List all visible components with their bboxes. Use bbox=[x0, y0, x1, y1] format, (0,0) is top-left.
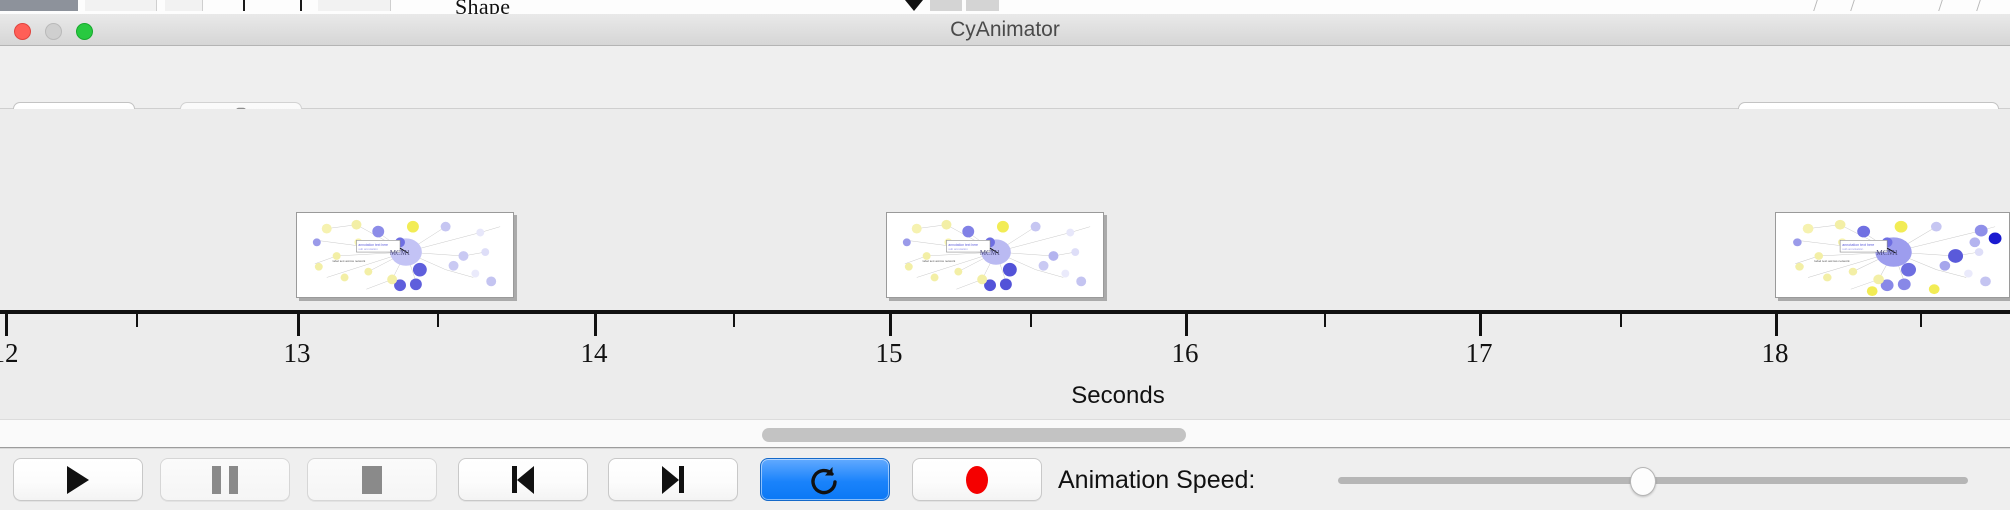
axis-label-13: 13 bbox=[284, 338, 311, 369]
axis-label-15: 15 bbox=[876, 338, 903, 369]
loop-icon bbox=[810, 464, 840, 496]
skip-back-icon bbox=[512, 466, 534, 494]
svg-text:MCM1: MCM1 bbox=[390, 250, 411, 257]
title-bar: CyAnimator bbox=[0, 14, 2010, 46]
play-icon bbox=[67, 466, 89, 494]
axis-tick-minor bbox=[437, 314, 439, 327]
window-title: CyAnimator bbox=[0, 14, 2010, 46]
frame-toolbar: Clear All Frames bbox=[0, 46, 2010, 109]
play-button[interactable] bbox=[13, 458, 143, 501]
record-icon bbox=[966, 466, 988, 494]
axis-label-14: 14 bbox=[581, 338, 608, 369]
skip-to-start-button[interactable] bbox=[458, 458, 588, 501]
axis-label-12: 12 bbox=[0, 338, 19, 369]
background-window-divider bbox=[1976, 0, 1981, 11]
keyframe-thumbnail-3[interactable]: annotation text here sub annotation MCM1… bbox=[1775, 212, 2010, 298]
background-window-divider bbox=[1813, 0, 1818, 11]
background-window-cell bbox=[930, 0, 962, 11]
background-window-cell bbox=[85, 0, 157, 11]
loop-button[interactable] bbox=[760, 458, 890, 501]
stop-icon bbox=[362, 466, 382, 494]
skip-forward-icon bbox=[662, 466, 684, 494]
timeline-scrollbar-thumb[interactable] bbox=[762, 428, 1186, 442]
background-window-tick bbox=[300, 0, 302, 11]
axis-tick-major bbox=[1775, 314, 1778, 336]
background-window-selected-cell bbox=[0, 0, 78, 11]
background-window-divider bbox=[1938, 0, 1943, 11]
skip-to-end-button[interactable] bbox=[608, 458, 738, 501]
background-window-label: Shape bbox=[455, 0, 510, 14]
network-graph-preview: annotation text here sub annotation MCM1… bbox=[297, 213, 513, 297]
svg-text:MCM1: MCM1 bbox=[1876, 249, 1898, 257]
network-graph-preview: annotation text here sub annotation MCM1… bbox=[1776, 213, 2009, 297]
axis-title: Seconds bbox=[0, 382, 2010, 410]
background-window-cell bbox=[165, 0, 203, 11]
svg-text:label text across network: label text across network bbox=[333, 259, 366, 263]
axis-tick-major bbox=[1479, 314, 1482, 336]
network-graph-preview: annotation text here sub annotation MCM1… bbox=[887, 213, 1103, 297]
axis-title-label: Seconds bbox=[1071, 382, 1164, 409]
stop-button[interactable] bbox=[307, 458, 437, 501]
background-window-divider bbox=[1850, 0, 1855, 11]
keyframe-thumbnail-2[interactable]: annotation text here sub annotation MCM1… bbox=[886, 212, 1104, 298]
animation-speed-label: Animation Speed: bbox=[1058, 466, 1255, 495]
timeline-panel[interactable]: annotation text here sub annotation MCM1… bbox=[0, 109, 2010, 419]
timeline-axis-line bbox=[0, 310, 2010, 314]
axis-tick-major bbox=[594, 314, 597, 336]
axis-label-17: 17 bbox=[1466, 338, 1493, 369]
background-window-strip: Shape bbox=[0, 0, 2010, 14]
axis-tick-minor bbox=[1324, 314, 1326, 327]
pause-button[interactable] bbox=[160, 458, 290, 501]
svg-text:label text across network: label text across network bbox=[923, 259, 956, 263]
axis-tick-minor bbox=[136, 314, 138, 327]
background-window-cell bbox=[318, 0, 391, 11]
svg-text:MCM1: MCM1 bbox=[980, 250, 1001, 257]
axis-tick-major bbox=[5, 314, 8, 336]
axis-label-18: 18 bbox=[1762, 338, 1789, 369]
axis-tick-major bbox=[297, 314, 300, 336]
axis-tick-minor bbox=[1030, 314, 1032, 327]
keyframe-thumbnail-1[interactable]: annotation text here sub annotation MCM1… bbox=[296, 212, 514, 298]
axis-tick-minor bbox=[1920, 314, 1922, 327]
axis-tick-major bbox=[889, 314, 892, 336]
svg-text:sub annotation: sub annotation bbox=[1842, 247, 1863, 251]
timeline-scrollbar-track[interactable] bbox=[0, 419, 2010, 448]
svg-text:label text across network: label text across network bbox=[1814, 259, 1850, 263]
svg-text:sub annotation: sub annotation bbox=[948, 247, 968, 251]
axis-label-16: 16 bbox=[1172, 338, 1199, 369]
svg-text:sub annotation: sub annotation bbox=[358, 247, 378, 251]
record-button[interactable] bbox=[912, 458, 1042, 501]
pause-icon bbox=[212, 466, 238, 494]
background-window-tick bbox=[243, 0, 245, 11]
background-window-cursor-arrow bbox=[905, 0, 923, 11]
axis-tick-major bbox=[1185, 314, 1188, 336]
axis-tick-minor bbox=[1620, 314, 1622, 327]
animation-speed-slider-thumb[interactable] bbox=[1630, 467, 1656, 496]
background-window-cell bbox=[966, 0, 999, 11]
axis-tick-minor bbox=[733, 314, 735, 327]
